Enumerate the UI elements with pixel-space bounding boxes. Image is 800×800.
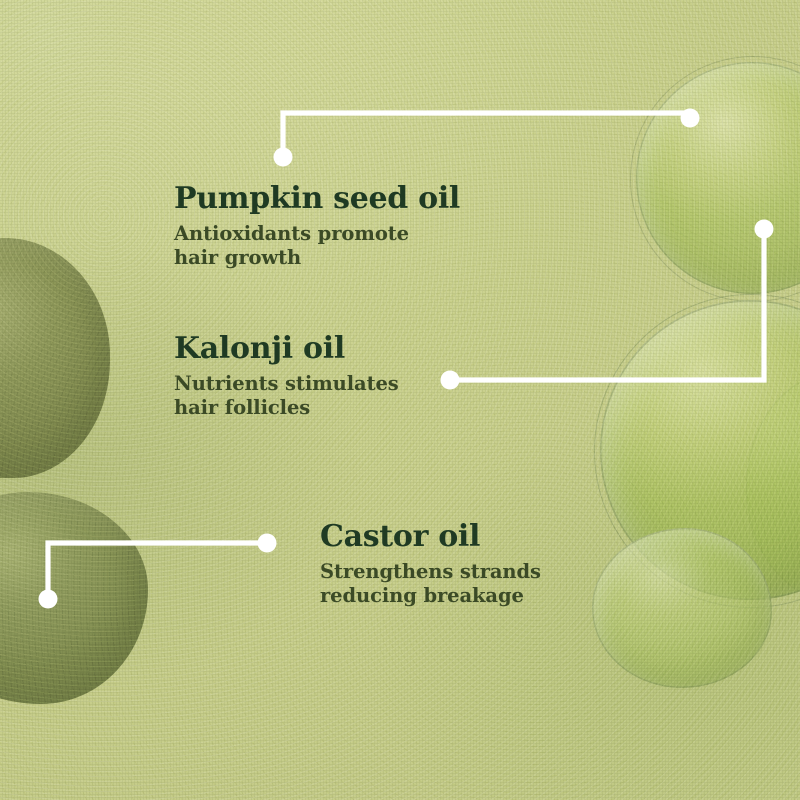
callout-title-kalonji-oil: Kalonji oil	[174, 333, 399, 365]
infographic-canvas: Pumpkin seed oil Antioxidants promote ha…	[0, 0, 800, 800]
paper-speckle-texture	[0, 0, 800, 800]
callout-castor-oil: Castor oil Strengthens strands reducing …	[320, 521, 541, 609]
callout-kalonji-oil: Kalonji oil Nutrients stimulates hair fo…	[174, 333, 399, 421]
callout-description-castor-oil: Strengthens strands reducing breakage	[320, 560, 541, 610]
callout-pumpkin-seed-oil: Pumpkin seed oil Antioxidants promote ha…	[174, 183, 460, 271]
callout-title-castor-oil: Castor oil	[320, 521, 541, 553]
callout-title-pumpkin-seed-oil: Pumpkin seed oil	[174, 183, 460, 215]
callout-description-pumpkin-seed-oil: Antioxidants promote hair growth	[174, 222, 460, 272]
callout-description-kalonji-oil: Nutrients stimulates hair follicles	[174, 372, 399, 422]
